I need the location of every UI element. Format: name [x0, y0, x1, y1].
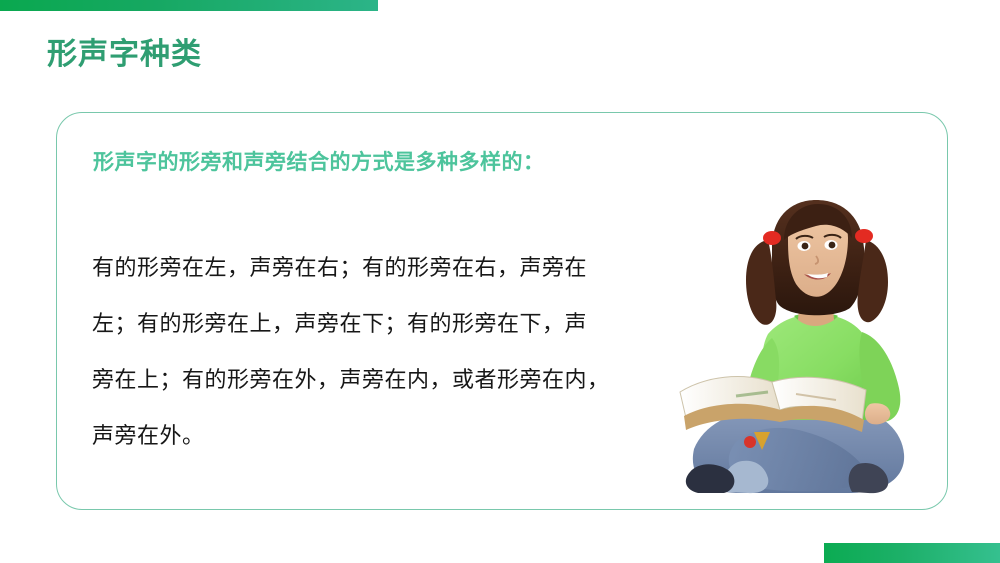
hair-tie-left [763, 231, 781, 245]
body-line-4: 声旁在外。 [92, 408, 672, 464]
bottom-accent-bar [824, 543, 1000, 563]
content-body: 有的形旁在左，声旁在右；有的形旁在右，声旁在 左；有的形旁在上，声旁在下；有的形… [92, 240, 672, 464]
body-line-1: 有的形旁在左，声旁在右；有的形旁在右，声旁在 [92, 240, 672, 296]
eye-left-pupil [802, 243, 809, 250]
top-accent-bar [0, 0, 378, 11]
body-line-2: 左；有的形旁在上，声旁在下；有的形旁在下，声 [92, 296, 672, 352]
content-heading: 形声字的形旁和声旁结合的方式是多种多样的： [93, 146, 545, 176]
slide-root: 形声字种类 形声字的形旁和声旁结合的方式是多种多样的： 有的形旁在左，声旁在右；… [0, 0, 1000, 563]
page-title: 形声字种类 [47, 37, 202, 73]
bookmark-bead [744, 436, 756, 448]
hair-tie-right [855, 229, 873, 243]
body-line-3: 旁在上；有的形旁在外，声旁在内，或者形旁在内， [92, 352, 672, 408]
pigtail-left [746, 240, 776, 325]
girl-reading-book-photo [676, 196, 936, 510]
eye-right-pupil [829, 242, 836, 249]
